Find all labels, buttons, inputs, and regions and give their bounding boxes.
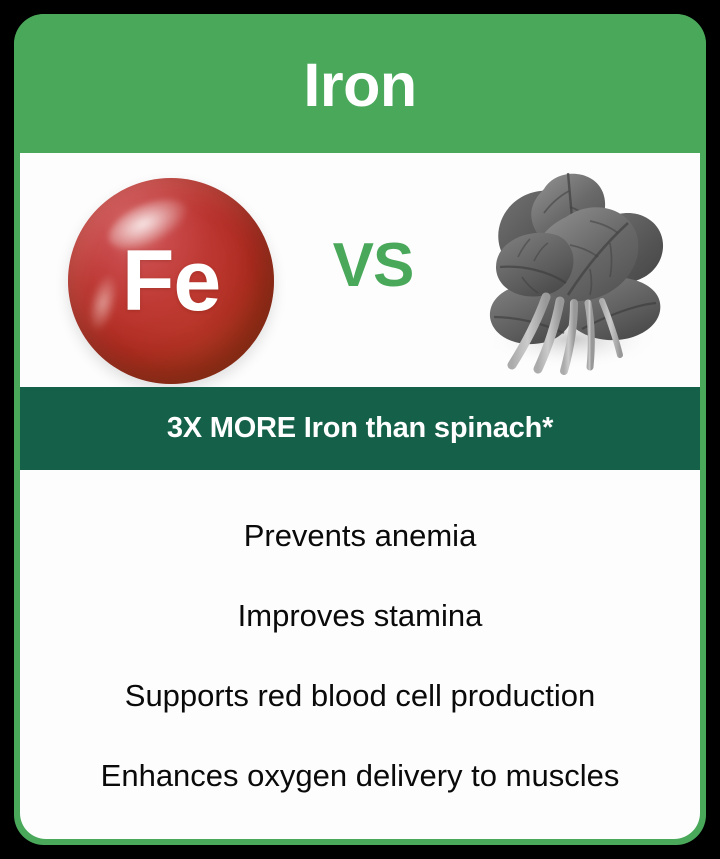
claim-banner: 3X MORE Iron than spinach* [20, 387, 700, 470]
claim-text: 3X MORE Iron than spinach* [167, 412, 553, 445]
comparison-panel: Fe VS [20, 153, 700, 387]
benefits-list: Prevents anemia Improves stamina Support… [20, 470, 700, 839]
iron-nutrient-card: Iron Fe VS [14, 14, 706, 845]
list-item: Enhances oxygen delivery to muscles [20, 736, 700, 816]
list-item: Improves stamina [20, 576, 700, 656]
list-item: Supports red blood cell production [20, 656, 700, 736]
spinach-bunch-icon [460, 161, 672, 381]
list-item: Prevents anemia [20, 496, 700, 576]
iron-element-sphere: Fe [68, 178, 274, 384]
versus-label: VS [308, 235, 438, 297]
element-symbol-label: Fe [68, 178, 274, 384]
card-header: Iron [14, 14, 706, 153]
page-title: Iron [303, 55, 416, 116]
